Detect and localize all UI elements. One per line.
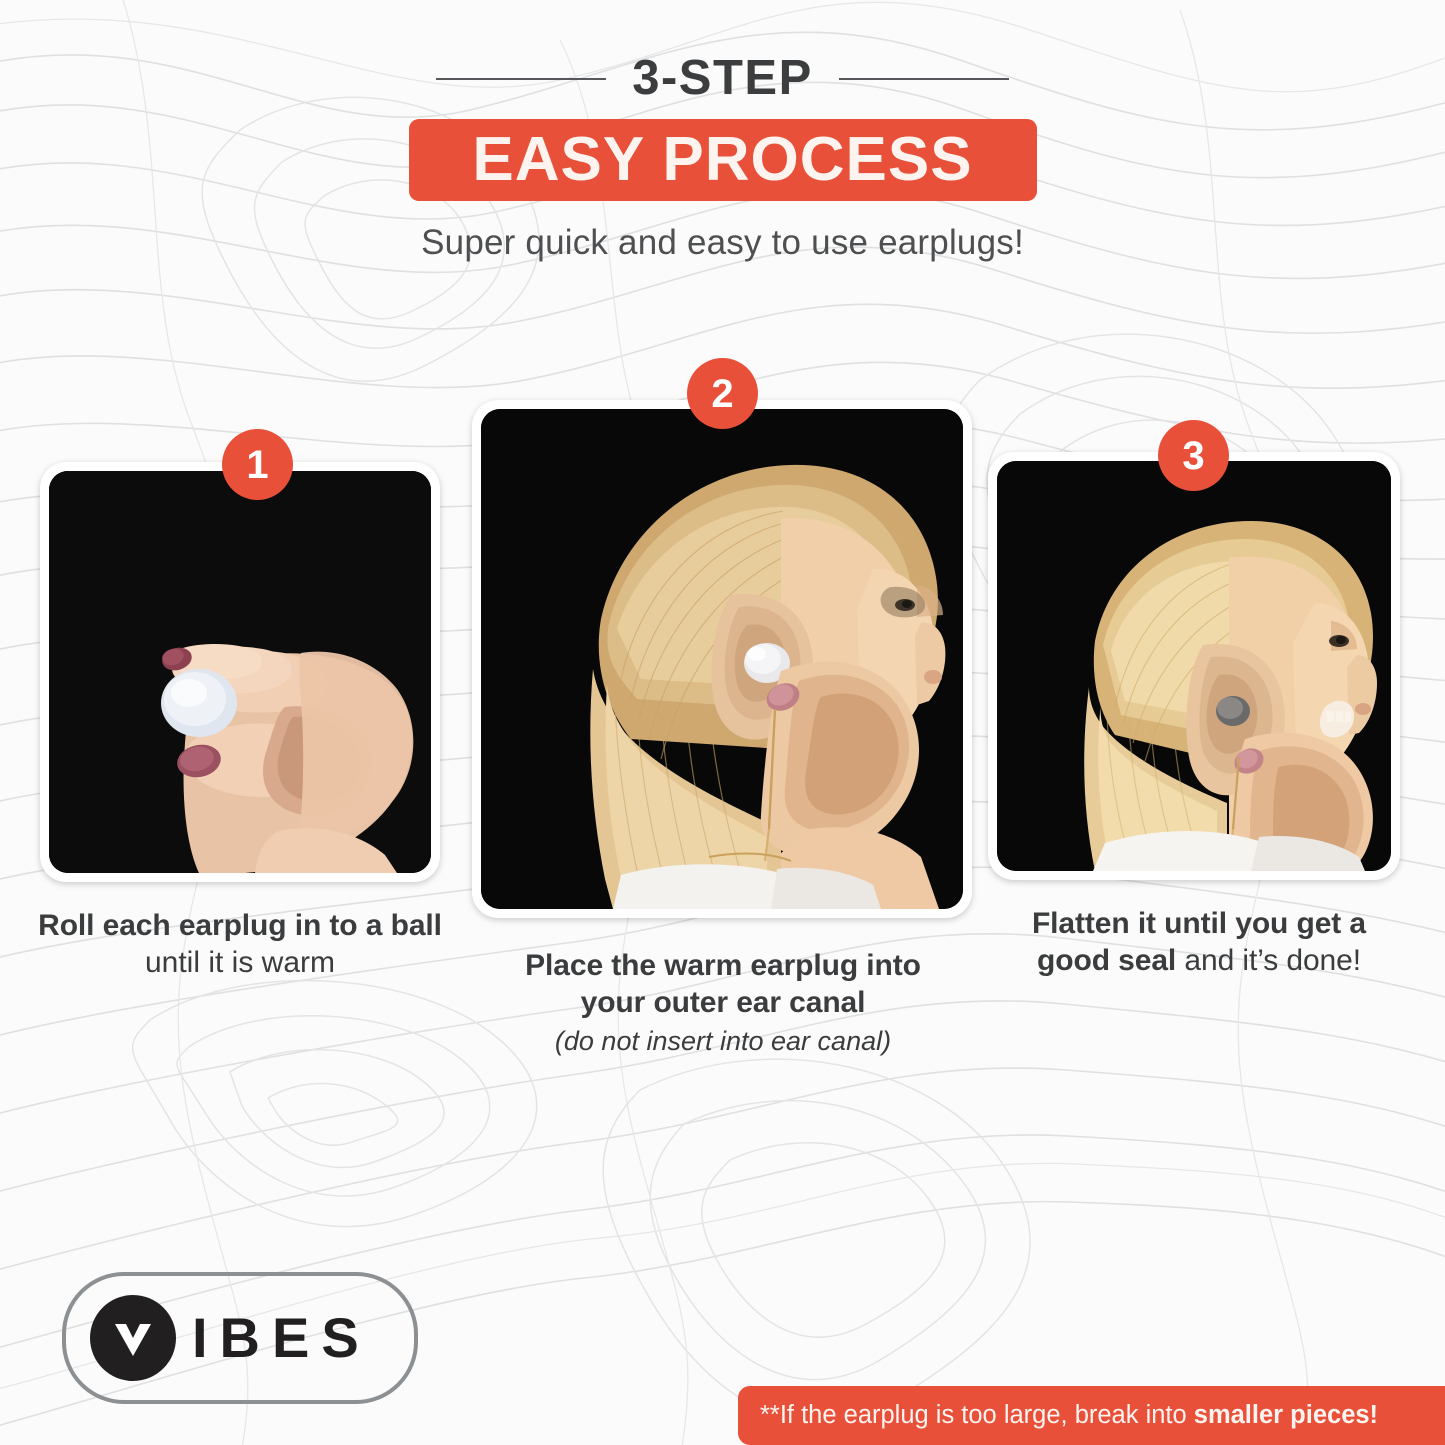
divider-line-left — [436, 78, 606, 80]
page-kicker: 3-STEP — [632, 54, 813, 103]
step-2-caption-note: (do not insert into ear canal) — [470, 1025, 976, 1059]
step-2-caption: Place the warm earplug into your outer e… — [470, 948, 976, 1059]
page-subtitle: Super quick and easy to use earplugs! — [0, 223, 1445, 263]
step-1-badge: 1 — [222, 429, 293, 500]
step-3-badge: 3 — [1158, 420, 1229, 491]
footer-note-regular: **If the earplug is too large, break int… — [760, 1401, 1194, 1429]
step-2-badge: 2 — [687, 358, 758, 429]
step-3-photo-frame — [988, 452, 1400, 880]
kicker-row: 3-STEP — [0, 54, 1445, 103]
title-banner: EASY PROCESS — [409, 119, 1037, 201]
step-2-photo — [481, 409, 963, 909]
footer-banner: **If the earplug is too large, break int… — [738, 1386, 1445, 1445]
step-2-caption-bold: Place the warm earplug into — [470, 948, 976, 985]
step-1-caption-bold: Roll each earplug in to a ball — [28, 908, 452, 945]
step-1-caption: Roll each earplug in to a ball until it … — [28, 908, 452, 981]
step-1-photo-frame — [40, 462, 440, 882]
divider-line-right — [839, 78, 1009, 80]
vibes-logo: IBES — [62, 1272, 418, 1404]
page-title: EASY PROCESS — [472, 129, 972, 191]
step-2-photo-frame — [472, 400, 972, 918]
v-glyph-icon — [107, 1312, 159, 1364]
step-2-caption-bold-2: your outer ear canal — [470, 985, 976, 1022]
step-3-caption-bold-2: good seal — [1037, 944, 1176, 977]
step-3-caption: Flatten it until you get a good seal and… — [990, 906, 1408, 979]
step-3-photo — [997, 461, 1391, 871]
step-3-caption-line2: good seal and it’s done! — [990, 943, 1408, 980]
step-1-photo — [49, 471, 431, 873]
vibes-logo-mark — [90, 1295, 176, 1381]
step-3-caption-regular: and it’s done! — [1176, 944, 1361, 977]
step-1-caption-regular: until it is warm — [28, 945, 452, 982]
footer-note: **If the earplug is too large, break int… — [760, 1403, 1378, 1429]
step-3-caption-bold: Flatten it until you get a — [990, 906, 1408, 943]
vibes-wordmark: IBES — [192, 1310, 371, 1366]
footer-note-bold: smaller pieces! — [1194, 1401, 1378, 1429]
header: 3-STEP EASY PROCESS Super quick and easy… — [0, 54, 1445, 263]
